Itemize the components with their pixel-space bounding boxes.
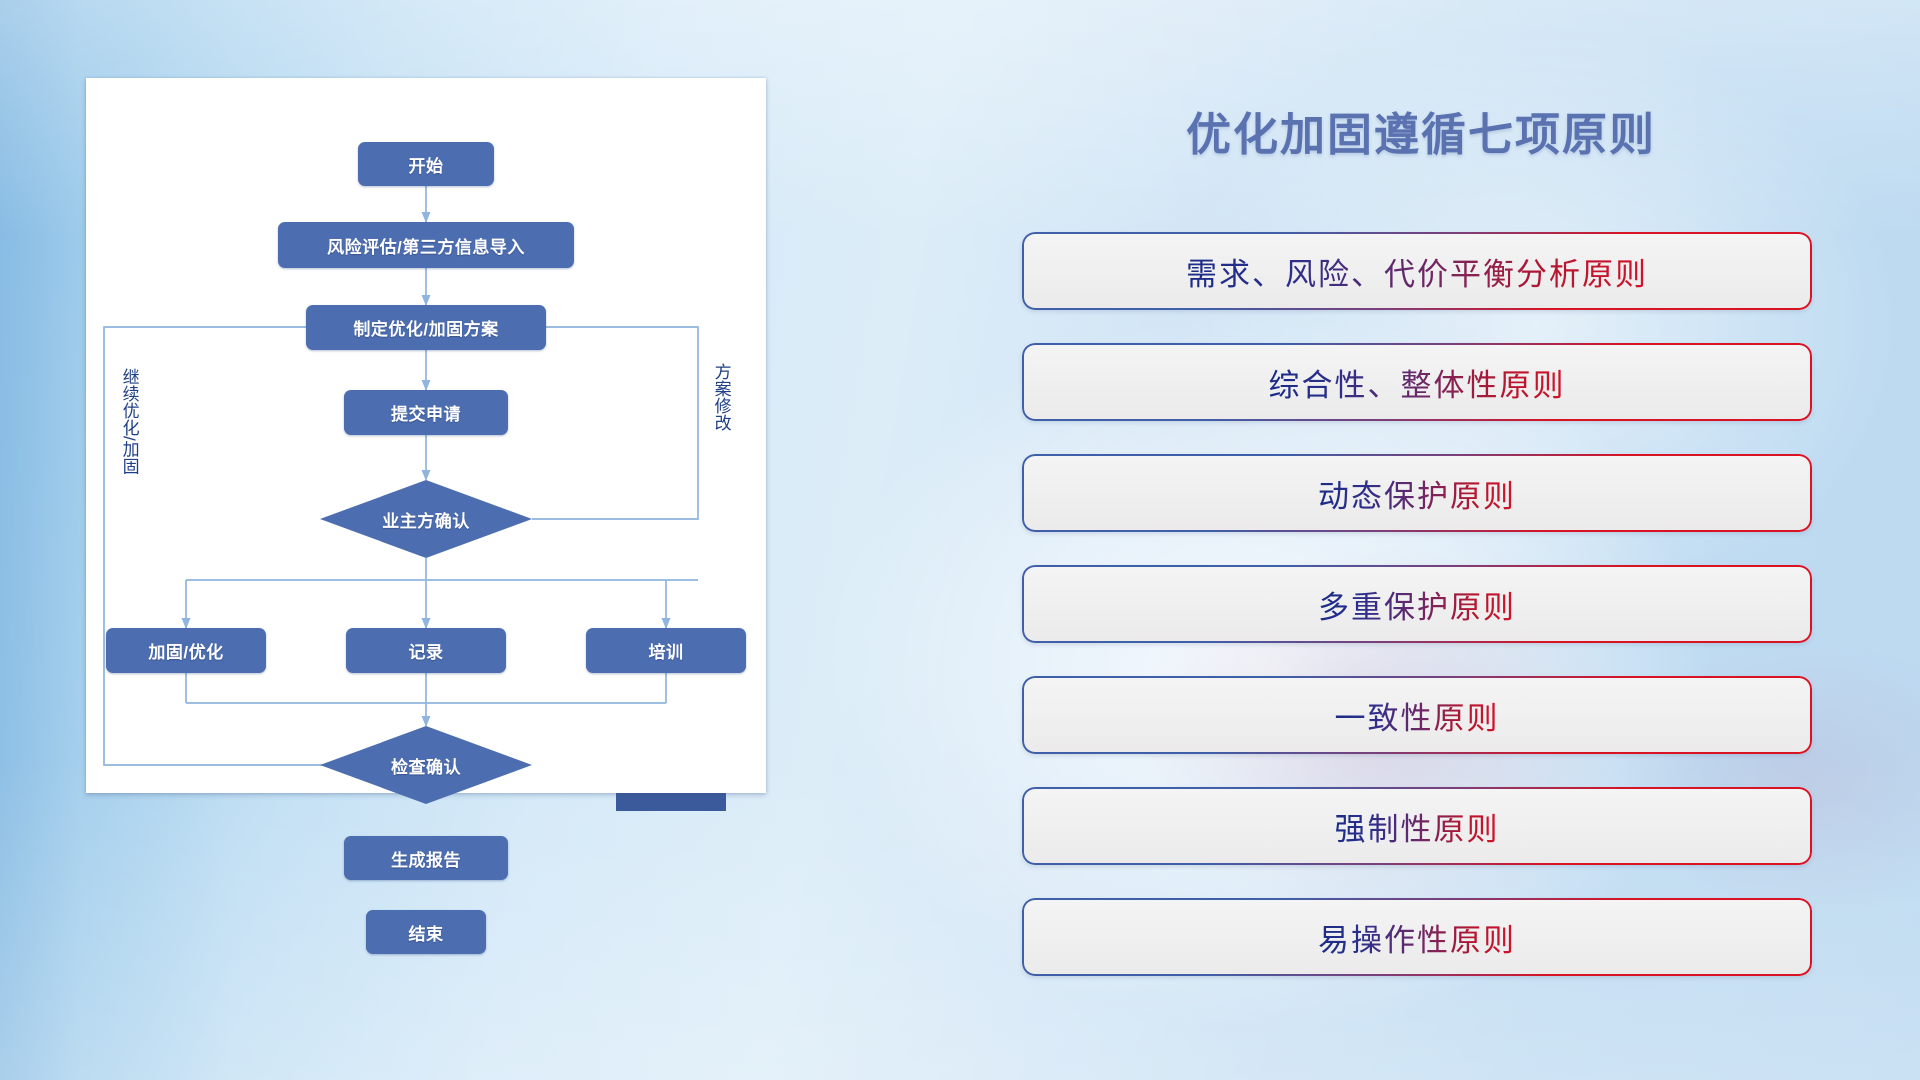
flow-edge-label-plan-revision: 方案修改	[712, 363, 730, 431]
principle-card-label: 动态保护原则	[1318, 471, 1516, 516]
principle-card[interactable]: 一致性原则	[1022, 676, 1812, 754]
principle-card[interactable]: 综合性、整体性原则	[1022, 343, 1812, 421]
principle-card[interactable]: 强制性原则	[1022, 787, 1812, 865]
flow-node-training[interactable]: 培训	[586, 628, 746, 673]
flow-node-reinforce-optimize[interactable]: 加固/优化	[106, 628, 266, 673]
flowchart-panel: 开始 风险评估/第三方信息导入 制定优化/加固方案 提交申请 业主方确认 加固/…	[86, 78, 816, 818]
flow-node-make-plan[interactable]: 制定优化/加固方案	[306, 305, 546, 350]
flow-node-submit-application[interactable]: 提交申请	[344, 390, 508, 435]
principle-card-label: 易操作性原则	[1318, 915, 1516, 960]
flow-decision-inspection-confirm-label: 检查确认	[391, 753, 461, 778]
principle-card[interactable]: 动态保护原则	[1022, 454, 1812, 532]
principle-card-label: 综合性、整体性原则	[1269, 360, 1566, 405]
flow-node-end[interactable]: 结束	[366, 910, 486, 954]
flow-node-generate-report[interactable]: 生成报告	[344, 836, 508, 880]
flow-edge-label-continue-optimize: 继续优化/加固	[120, 368, 138, 475]
principle-card-label: 强制性原则	[1335, 804, 1500, 849]
flow-node-risk-assessment[interactable]: 风险评估/第三方信息导入	[278, 222, 574, 268]
principle-card[interactable]: 需求、风险、代价平衡分析原则	[1022, 232, 1812, 310]
flow-node-record[interactable]: 记录	[346, 628, 506, 673]
principle-card[interactable]: 易操作性原则	[1022, 898, 1812, 976]
flow-decision-inspection-confirm[interactable]: 检查确认	[320, 726, 532, 804]
page-title: 优化加固遵循七项原则	[1012, 98, 1830, 163]
principle-card-label: 一致性原则	[1335, 693, 1500, 738]
principle-card-list: 需求、风险、代价平衡分析原则 综合性、整体性原则 动态保护原则 多重保护原则 一…	[1022, 232, 1812, 1009]
principle-card-label: 多重保护原则	[1318, 582, 1516, 627]
flow-decision-owner-confirm-label: 业主方确认	[382, 507, 470, 532]
process-flowchart: 开始 风险评估/第三方信息导入 制定优化/加固方案 提交申请 业主方确认 加固/…	[86, 78, 766, 793]
flow-decision-owner-confirm[interactable]: 业主方确认	[320, 480, 532, 558]
flow-node-start[interactable]: 开始	[358, 142, 494, 186]
flowchart-white-card: 开始 风险评估/第三方信息导入 制定优化/加固方案 提交申请 业主方确认 加固/…	[86, 78, 766, 793]
principle-card[interactable]: 多重保护原则	[1022, 565, 1812, 643]
principle-card-label: 需求、风险、代价平衡分析原则	[1186, 249, 1648, 294]
principles-section: 优化加固遵循七项原则	[1020, 98, 1830, 163]
